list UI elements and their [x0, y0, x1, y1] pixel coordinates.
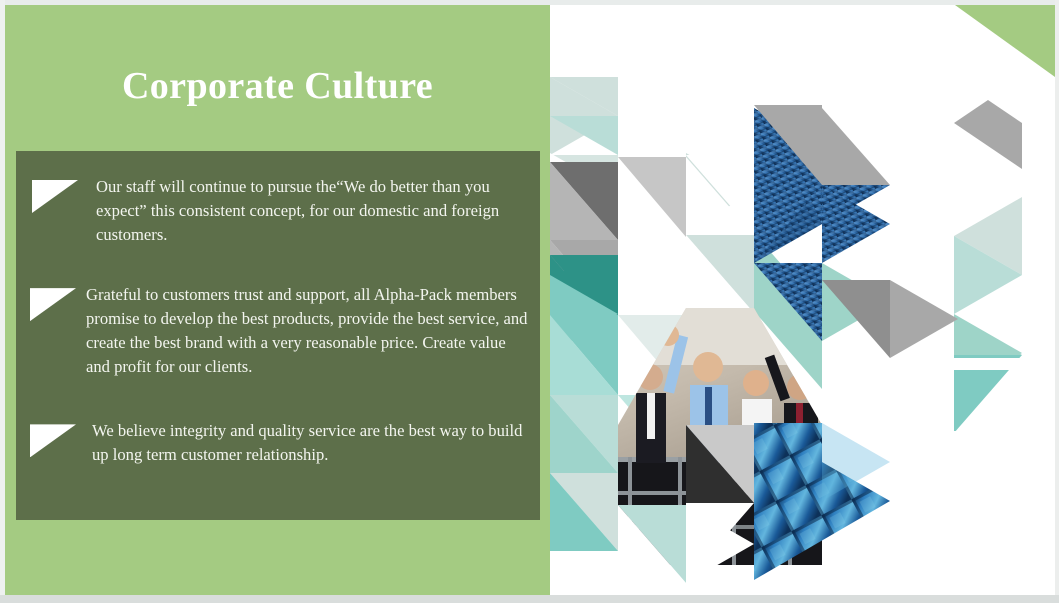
- page-title: Corporate Culture: [5, 66, 550, 108]
- slide-frame-bottom: [0, 595, 1059, 603]
- bullet-content-box: Our staff will continue to pursue the“We…: [16, 151, 540, 520]
- list-item-text: Grateful to customers trust and support,…: [86, 283, 530, 379]
- triangular-photo-mosaic: [550, 5, 1055, 595]
- triangle-flag-marker-icon: [30, 424, 76, 457]
- list-item: Grateful to customers trust and support,…: [16, 283, 540, 379]
- list-item: Our staff will continue to pursue the“We…: [16, 175, 540, 247]
- slide-canvas: Corporate Culture Our staff will continu…: [0, 0, 1059, 603]
- triangle-flag-marker-icon: [32, 180, 78, 213]
- list-item-text: We believe integrity and quality service…: [86, 419, 530, 467]
- list-item-text: Our staff will continue to pursue the“We…: [88, 175, 530, 247]
- list-item: We believe integrity and quality service…: [16, 419, 540, 467]
- mosaic-svg: [550, 5, 1055, 595]
- slide-frame-right: [1055, 0, 1059, 603]
- triangle-flag-marker-icon: [30, 288, 76, 321]
